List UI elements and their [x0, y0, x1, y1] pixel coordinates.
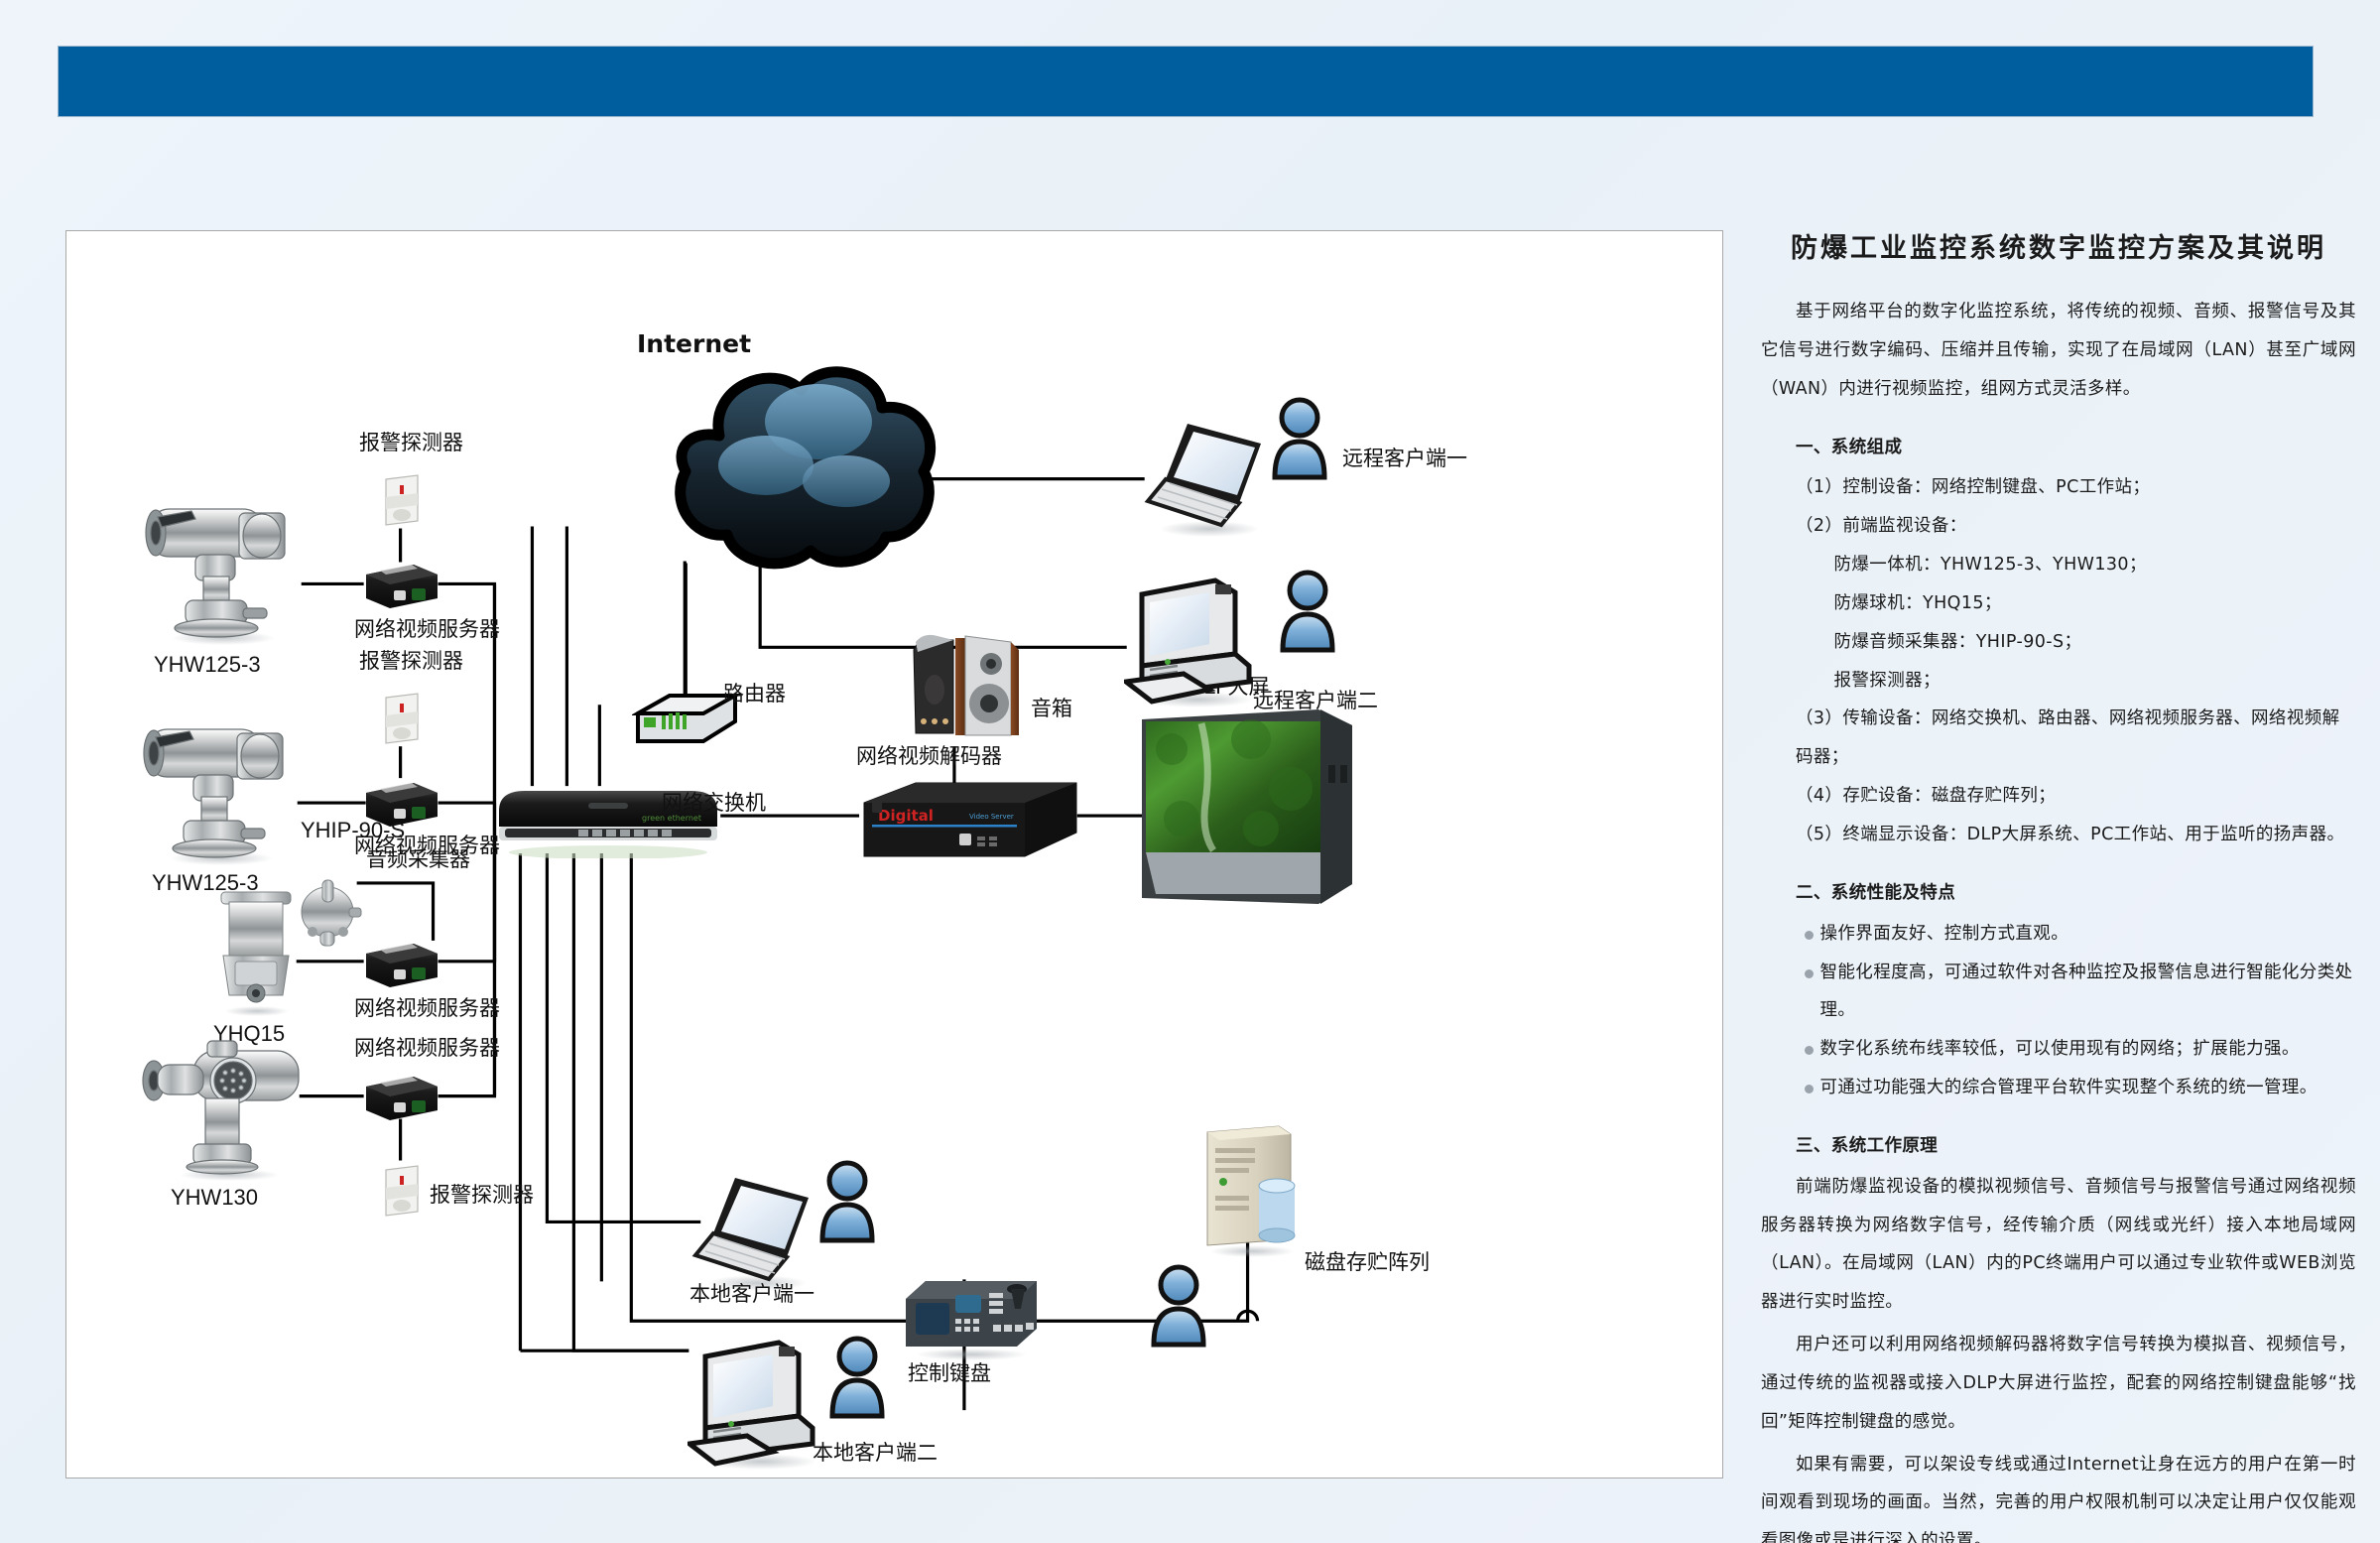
section-2-heading: 二、系统性能及特点: [1761, 874, 2356, 913]
disk-cylinder: [1259, 1179, 1295, 1242]
section-3-paragraph-1: 前端防爆监视设备的模拟视频信号、音频信号与报警信号通过网络视频服务器转换为网络数…: [1761, 1168, 2356, 1322]
video-server-1-label: 网络视频服务器: [354, 618, 500, 641]
section-1-item-6: 报警探测器；: [1761, 662, 2356, 701]
audio-model-label: YHIP-90-S: [301, 819, 405, 842]
network-diagram-panel: Internet YHW125-3: [65, 230, 1723, 1479]
document-title: 防爆工业监控系统数字监控方案及其说明: [1761, 226, 2356, 265]
disk-array-device: [1197, 1124, 1307, 1258]
video-server-3: [362, 940, 441, 991]
intro-paragraph: 基于网络平台的数字化监控系统，将传统的视频、音频、报警信号及其它信号进行数字编码…: [1761, 293, 2356, 409]
section-1-item-1: （1）控制设备：网络控制键盘、PC工作站；: [1761, 468, 2356, 507]
section-2-bullet-2: 智能化程度高，可通过软件对各种监控及报警信息进行智能化分类处理。: [1761, 954, 2356, 1031]
svg-text:green ethernet: green ethernet: [642, 814, 701, 823]
local-client-2-desktop: [688, 1333, 831, 1472]
control-keyboard-device: [900, 1271, 1044, 1360]
section-1-heading: 一、系统组成: [1761, 429, 2356, 467]
camera-yhw130: [138, 1033, 321, 1182]
remote-client-2-person: [1277, 569, 1338, 654]
local-client-2-label: 本地客户端二: [813, 1442, 938, 1465]
section-3-paragraph-3: 如果有需要，可以架设专线或通过Internet让身在远方的用户在第一时间观看到现…: [1761, 1446, 2356, 1543]
alarm-detector-3-label: 报警探测器: [430, 1184, 534, 1207]
network-switch-label: 网络交换机: [662, 792, 766, 815]
section-1-item-7: （3）传输设备：网络交换机、路由器、网络视频服务器、网络视频解码器；: [1761, 700, 2356, 777]
switch-downlinks: [520, 853, 1247, 1350]
video-server-4-label: 网络视频服务器: [354, 1037, 500, 1060]
local-client-1-laptop: [691, 1164, 820, 1293]
local-client-1-label: 本地客户端一: [689, 1283, 814, 1306]
page-root: Internet YHW125-3: [0, 0, 2380, 1543]
internet-label: Internet: [637, 330, 751, 358]
svg-text:Video Server: Video Server: [969, 813, 1014, 821]
document-text-panel: 防爆工业监控系统数字监控方案及其说明 基于网络平台的数字化监控系统，将传统的视频…: [1761, 226, 2356, 1516]
audio-collector-label: 音频采集器: [366, 848, 470, 871]
section-2-bullet-1: 操作界面友好、控制方式直观。: [1761, 915, 2356, 954]
remote-client-1-label: 远程客户端一: [1342, 448, 1467, 470]
alarm-detector-2: [382, 690, 422, 747]
internet-cloud: [652, 350, 949, 579]
dlp-screen-device: [1142, 709, 1360, 913]
disk-array-label: 磁盘存贮阵列: [1305, 1251, 1430, 1274]
camera-yhq15: [205, 878, 305, 1017]
remote-client-2-desktop: [1124, 571, 1268, 709]
local-client-2-person: [826, 1335, 888, 1420]
section-3-paragraph-2: 用户还可以利用网络视频解码器将数字信号转换为模拟音、视频信号，通过传统的监视器或…: [1761, 1326, 2356, 1442]
alarm-detector-1-label: 报警探测器: [359, 432, 463, 454]
video-server-3-label: 网络视频服务器: [354, 997, 500, 1020]
video-server-1: [362, 561, 441, 612]
section-1-item-2: （2）前端监视设备：: [1761, 507, 2356, 546]
camera-yhw125-3-top-label: YHW125-3: [154, 653, 261, 677]
section-1-item-8: （4）存贮设备：磁盘存贮阵列；: [1761, 777, 2356, 816]
control-keyboard-label: 控制键盘: [908, 1362, 991, 1385]
video-server-4: [362, 1073, 441, 1124]
decoder-brand-text: Digital: [878, 807, 934, 825]
disk-array-person: [1148, 1263, 1209, 1349]
camera-yhw130-label: YHW130: [171, 1186, 258, 1210]
remote-client-1-person: [1269, 396, 1330, 481]
section-1-item-9: （5）终端显示设备：DLP大屏系统、PC工作站、用于监听的扬声器。: [1761, 816, 2356, 854]
remote-client-1-laptop: [1144, 410, 1273, 539]
section-2-bullet-3: 数字化系统布线率较低，可以使用现有的网络；扩展能力强。: [1761, 1030, 2356, 1069]
router-label: 路由器: [723, 683, 786, 706]
header-bar: [58, 46, 2314, 117]
video-decoder-device: Digital Video Server: [858, 779, 1082, 864]
speaker-label: 音箱: [1031, 698, 1072, 720]
section-3-heading: 三、系统工作原理: [1761, 1127, 2356, 1166]
speaker-device: [908, 628, 1022, 747]
camera-yhw125-3-top: [136, 497, 310, 646]
section-1-item-3: 防爆一体机：YHW125-3、YHW130；: [1761, 546, 2356, 584]
local-client-1-person: [816, 1159, 878, 1244]
remote-client-2-label: 远程客户端二: [1253, 690, 1378, 712]
section-1-item-4: 防爆球机：YHQ15；: [1761, 584, 2356, 623]
alarm-detector-3: [382, 1162, 422, 1220]
alarm-detector-1: [382, 471, 422, 529]
camera-yhw125-3-second: [134, 717, 308, 866]
alarm-detector-2-label: 报警探测器: [359, 650, 463, 673]
section-2-bullet-4: 可通过功能强大的综合管理平台软件实现整个系统的统一管理。: [1761, 1069, 2356, 1107]
video-decoder-label: 网络视频解码器: [856, 745, 1002, 768]
section-1-item-5: 防爆音频采集器：YHIP-90-S；: [1761, 623, 2356, 662]
audio-collector-device: [295, 874, 364, 950]
